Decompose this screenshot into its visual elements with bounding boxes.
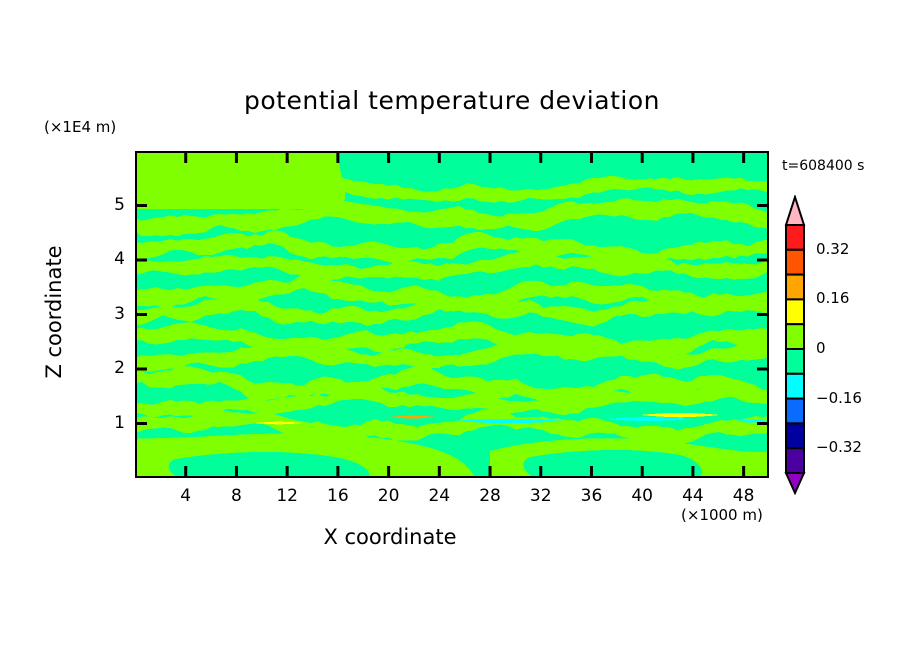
x-tick-label: 12: [267, 486, 307, 506]
y-tick-label: 1: [101, 413, 125, 433]
x-tick-label: 48: [724, 486, 764, 506]
colorbar-band: [786, 275, 804, 300]
y-tick-label: 2: [101, 358, 125, 378]
x-axis-unit-label: (×1000 m): [681, 506, 763, 524]
y-tick-label: 4: [101, 249, 125, 269]
colorbar-band: [786, 250, 804, 275]
x-tick-label: 8: [216, 486, 256, 506]
contour-plot: [135, 151, 769, 478]
x-tick-label: 40: [622, 486, 662, 506]
x-tick-label: 16: [318, 486, 358, 506]
y-tick-label: 5: [101, 195, 125, 215]
colorbar-over-arrow: [786, 197, 804, 225]
colorbar-band: [786, 324, 804, 349]
x-tick-label: 36: [571, 486, 611, 506]
colorbar-band: [786, 399, 804, 424]
x-tick-label: 32: [521, 486, 561, 506]
y-tick-label: 3: [101, 304, 125, 324]
contour-canvas: [135, 151, 769, 478]
chart-title: potential temperature deviation: [0, 86, 904, 115]
colorbar-band: [786, 448, 804, 473]
colorbar-canvas: [778, 195, 812, 495]
colorbar-tick-label: 0.32: [816, 240, 849, 258]
x-tick-label: 4: [166, 486, 206, 506]
colorbar: [778, 195, 812, 495]
x-tick-label: 28: [470, 486, 510, 506]
x-axis-label: X coordinate: [0, 525, 780, 549]
z-axis-unit-label: (×1E4 m): [44, 118, 116, 136]
colorbar-band: [786, 423, 804, 448]
colorbar-under-arrow: [786, 473, 804, 493]
colorbar-tick-label: 0.16: [816, 289, 849, 307]
x-tick-label: 20: [369, 486, 409, 506]
colorbar-tick-label: −0.32: [816, 438, 862, 456]
colorbar-band: [786, 299, 804, 324]
time-annotation: t=608400 s: [782, 158, 864, 174]
colorbar-band: [786, 225, 804, 250]
x-tick-label: 24: [419, 486, 459, 506]
colorbar-tick-label: −0.16: [816, 389, 862, 407]
colorbar-band: [786, 374, 804, 399]
x-tick-label: 44: [673, 486, 713, 506]
colorbar-tick-label: 0: [816, 339, 826, 357]
colorbar-band: [786, 349, 804, 374]
y-axis-label: Z coordinate: [42, 222, 66, 402]
